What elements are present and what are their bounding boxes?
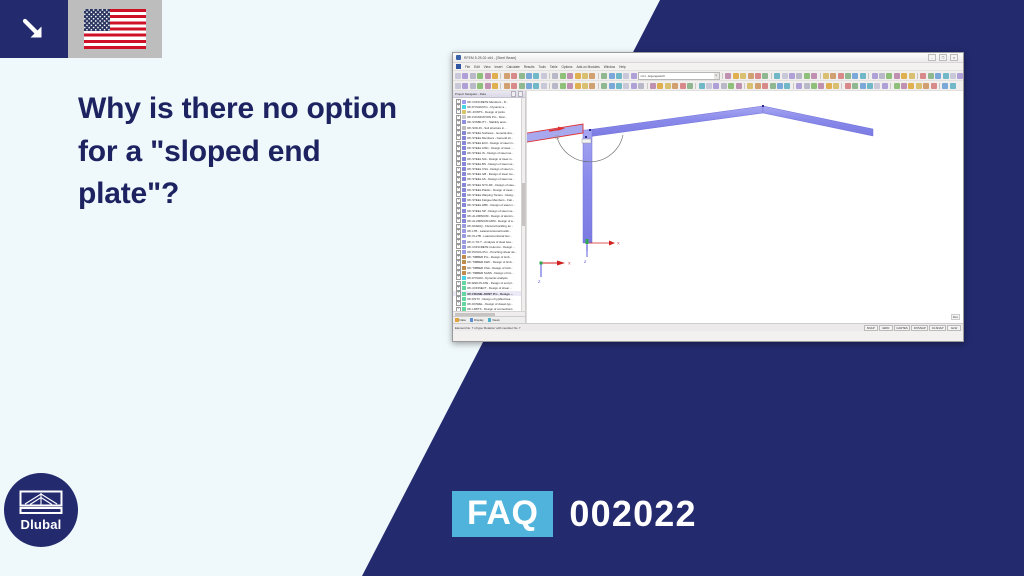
module-icon xyxy=(462,167,466,171)
toolbar-button[interactable] xyxy=(721,83,727,89)
toolbar-button[interactable] xyxy=(552,83,558,89)
module-icon xyxy=(462,146,466,150)
toolbar-button[interactable] xyxy=(519,83,525,89)
navigator-tree-item-label: RF-STEEL BS - Design of steel me... xyxy=(467,162,514,166)
toolbar-separator xyxy=(820,73,821,79)
rfem-application-window: RFEM 5.25.02 x64 - [Steel Beam] – ❐ ✕ Fi… xyxy=(452,52,964,342)
toolbar-button[interactable] xyxy=(533,83,539,89)
toolbar-separator xyxy=(549,73,550,79)
status-message: Element No. 7 of type 'Rotation' with me… xyxy=(455,326,521,330)
menu-item-view[interactable]: View xyxy=(484,65,491,69)
toolbar-button[interactable] xyxy=(845,73,851,79)
toolbar-button[interactable] xyxy=(928,73,934,79)
toolbar-button[interactable] xyxy=(838,73,844,79)
toolbar-button[interactable] xyxy=(511,73,517,79)
module-icon xyxy=(462,240,466,244)
navigator-tree-item-label: RF-DOWEL - Design of dowel-typ... xyxy=(467,302,513,306)
toolbar-button[interactable] xyxy=(455,73,461,79)
toolbar-button[interactable] xyxy=(950,73,956,79)
navigator-tree-item-label: RF-STEEL AS - Design of steel me... xyxy=(467,177,514,181)
toolbar-button[interactable] xyxy=(582,73,588,79)
toolbar-button[interactable] xyxy=(657,83,663,89)
status-cell[interactable]: OLSNAP xyxy=(929,325,946,331)
rafter-left-member xyxy=(587,106,763,137)
navigator-tree-item-label: RF-FRAME-JOINT Pro - Design ... xyxy=(467,292,513,296)
toolbar-button[interactable] xyxy=(728,83,734,89)
flag-usa-icon[interactable] xyxy=(68,0,162,58)
menu-item-results[interactable]: Results xyxy=(524,65,535,69)
dlubal-logo: Dlubal xyxy=(4,473,78,547)
navigator-tree-item[interactable]: +RF-STEEL EC3 - Design of steel m... xyxy=(453,141,525,146)
toolbar-button[interactable] xyxy=(796,73,802,79)
toolbar-button[interactable] xyxy=(826,83,832,89)
toolbar-button[interactable] xyxy=(601,83,607,89)
toolbar-button[interactable] xyxy=(455,83,461,89)
toolbar-separator xyxy=(500,83,501,89)
module-icon xyxy=(462,255,466,259)
arrow-down-right-icon xyxy=(0,0,68,58)
toolbar-separator xyxy=(841,83,842,89)
toolbar-button[interactable] xyxy=(616,83,622,89)
toolbar-button[interactable] xyxy=(740,73,746,79)
toolbar-button[interactable] xyxy=(852,73,858,79)
toolbar-button[interactable] xyxy=(950,83,956,89)
module-icon xyxy=(462,266,466,270)
global-axis-x-label: X xyxy=(568,261,571,266)
toolbar-button[interactable] xyxy=(589,73,595,79)
navigator-tree-item-label: RF-CONNECT - Design of shear ... xyxy=(467,286,512,290)
toolbar-button[interactable] xyxy=(485,73,491,79)
toolbar-button[interactable] xyxy=(733,73,739,79)
toolbar-button[interactable] xyxy=(931,83,937,89)
toolbar-button[interactable] xyxy=(818,83,824,89)
toolbar-button[interactable] xyxy=(526,73,532,79)
toolbar-button[interactable] xyxy=(504,83,510,89)
toolbar-separator xyxy=(868,73,869,79)
toolbar-separator xyxy=(695,83,696,89)
toolbar-button[interactable] xyxy=(526,83,532,89)
toolbar-button[interactable] xyxy=(879,73,885,79)
module-icon xyxy=(462,157,466,161)
toolbar-button[interactable] xyxy=(920,73,926,79)
toolbar-button[interactable] xyxy=(762,83,768,89)
toolbar-button[interactable] xyxy=(894,73,900,79)
module-icon xyxy=(462,234,466,238)
module-icon xyxy=(462,151,466,155)
module-icon xyxy=(462,219,466,223)
toolbar-button[interactable] xyxy=(874,83,880,89)
toolbar-button[interactable] xyxy=(774,73,780,79)
toolbar-button[interactable] xyxy=(567,73,573,79)
rotation-angle-label xyxy=(582,139,591,143)
toolbar-button[interactable] xyxy=(470,73,476,79)
toolbar-button[interactable] xyxy=(755,83,761,89)
module-icon xyxy=(462,115,466,119)
work-area: Project Navigator - Data +RF-CONCRETE Me… xyxy=(453,91,963,323)
local-axis-x-label: X xyxy=(617,241,620,246)
toolbar-secondary[interactable] xyxy=(453,81,963,91)
toolbar-button[interactable] xyxy=(882,83,888,89)
views-tab-icon xyxy=(488,318,492,322)
navigator-tab-views[interactable]: Views xyxy=(488,318,500,322)
navigator-tree-item-label: RF-C-TO-T - Analysis of steel bea... xyxy=(467,240,513,244)
module-icon xyxy=(462,131,466,135)
navigator-tree-item-label: RF-ALUMINIUM ADM - Design of a... xyxy=(467,219,515,223)
data-tab-icon xyxy=(455,318,459,322)
module-icon xyxy=(462,162,466,166)
toolbar-button[interactable] xyxy=(609,83,615,89)
module-icon xyxy=(462,188,466,192)
toolbar-button[interactable] xyxy=(860,73,866,79)
navigator-tree-item-label: RF-STEEL Members - General str... xyxy=(467,136,513,140)
toolbar-separator xyxy=(744,83,745,89)
navigator-tree-item-label: RF-STEEL EC3 - Design of steel m... xyxy=(467,141,515,145)
toolbar-button[interactable] xyxy=(699,83,705,89)
navigator-tree-item-label: RF-ALUMINIUM - Design of alumin... xyxy=(467,214,515,218)
toolbar-button[interactable] xyxy=(748,73,754,79)
navigator-tree-item-label: RF-STABILITY - Stability anal... xyxy=(467,120,507,124)
navigator-tree-item-label: RF-STEEL Warping Torsion - Desig... xyxy=(467,193,515,197)
maximize-button[interactable]: ❐ xyxy=(939,54,947,61)
navigator-vertical-scrollbar[interactable] xyxy=(521,98,526,311)
toolbar-button[interactable] xyxy=(462,83,468,89)
module-icon xyxy=(462,245,466,249)
dlubal-wordmark: Dlubal xyxy=(21,518,62,531)
menu-item-calculate[interactable]: Calculate xyxy=(506,65,519,69)
dlubal-frame-icon xyxy=(19,490,63,516)
toolbar-button[interactable] xyxy=(601,73,607,79)
load-case-combo[interactable]: LC1 - Eigengewicht▾ xyxy=(638,72,720,80)
module-icon xyxy=(462,214,466,218)
navigator-tree-item-label: RF-DYNAM Pro - Dynamic a... xyxy=(467,105,506,109)
toolbar-button[interactable] xyxy=(957,73,963,79)
chevron-down-icon[interactable]: ▾ xyxy=(714,73,719,79)
navigator-tree-item-label: RF-DUENQ - Flexural buckling an... xyxy=(467,224,513,228)
navigator-tab-views-label: Views xyxy=(492,318,500,322)
faq-identifier: FAQ 002022 xyxy=(452,491,697,537)
toolbar-button[interactable] xyxy=(631,83,637,89)
page-title: Why is there no option for a "sloped end… xyxy=(78,88,418,216)
toolbar-button[interactable] xyxy=(665,83,671,89)
toolbar-button[interactable] xyxy=(638,83,644,89)
toolbar-button[interactable] xyxy=(650,83,656,89)
navigator-tree-item[interactable]: +RF-STEEL SP - Design of steel me... xyxy=(453,208,525,213)
window-titlebar: RFEM 5.25.02 x64 - [Steel Beam] – ❐ ✕ xyxy=(453,53,963,63)
toolbar-button[interactable] xyxy=(541,83,547,89)
toolbar-button[interactable] xyxy=(777,83,783,89)
navigator-tree-item[interactable]: +RF-STEEL BS - Design of steel me... xyxy=(453,161,525,166)
global-origin-marker xyxy=(540,262,543,265)
navigator-header: Project Navigator - Data xyxy=(453,91,525,98)
toolbar-separator xyxy=(500,73,501,79)
toolbar-button[interactable] xyxy=(623,73,629,79)
navigator-tree-item-label: RF-TIMBER AWC - Design of timb... xyxy=(467,260,513,264)
toolbar-button[interactable] xyxy=(782,73,788,79)
module-icon xyxy=(462,172,466,176)
navigator-tree-item-label: RF-CONCRETE Members - D... xyxy=(467,100,508,104)
module-icon xyxy=(462,105,466,109)
status-cell[interactable]: GRID xyxy=(879,325,893,331)
module-icon xyxy=(462,271,466,275)
toolbar-button[interactable] xyxy=(747,83,753,89)
navigator-tree-item[interactable]: +RF-STEEL Plastic - Design of steel... xyxy=(453,187,525,192)
toolbar-button[interactable] xyxy=(770,83,776,89)
navigator-tree-item-label: RF-STEEL Surfaces - General stre... xyxy=(467,131,514,135)
module-icon xyxy=(462,136,466,140)
navigator-tree-item[interactable]: +RF-STEEL CSA - Design of steel m... xyxy=(453,166,525,171)
toolbar-separator xyxy=(890,83,891,89)
toolbar-button[interactable] xyxy=(680,83,686,89)
module-icon xyxy=(462,177,466,181)
toolbar-button[interactable] xyxy=(860,83,866,89)
navigator-tree-item-label: RF-PUNCH Pro - Punching shear de... xyxy=(467,250,516,254)
menu-item-edit[interactable]: Edit xyxy=(474,65,480,69)
toolbar-separator xyxy=(793,83,794,89)
rfem-app-icon xyxy=(456,55,461,60)
toolbar-separator xyxy=(771,73,772,79)
toolbar-button[interactable] xyxy=(616,73,622,79)
sloped-end-plate-member xyxy=(527,124,583,144)
toolbar-button[interactable] xyxy=(872,73,878,79)
toolbar-button[interactable] xyxy=(470,83,476,89)
navigator-pin-button[interactable] xyxy=(511,91,517,97)
toolbar-button[interactable] xyxy=(462,73,468,79)
navigator-tree-item[interactable]: +RF-STEEL Warping Torsion - Desig... xyxy=(453,192,525,197)
navigator-tree-item-label: RF-STEEL IS - Design of steel me... xyxy=(467,151,513,155)
module-icon xyxy=(462,183,466,187)
menu-item-addon-modules[interactable]: Add-on Modules xyxy=(577,65,600,69)
navigator-tree[interactable]: +RF-CONCRETE Members - D...+RF-DYNAM Pro… xyxy=(453,98,525,311)
toolbar-separator xyxy=(598,73,599,79)
menu-item-window[interactable]: Window xyxy=(604,65,615,69)
menu-item-tools[interactable]: Tools xyxy=(538,65,545,69)
navigator-scroll-thumb[interactable] xyxy=(522,183,526,226)
module-icon xyxy=(462,126,466,130)
menu-item-options[interactable]: Options xyxy=(562,65,573,69)
language-selector[interactable] xyxy=(0,0,162,58)
global-axis-x-arrow xyxy=(557,261,565,266)
toolbar-button[interactable] xyxy=(811,83,817,89)
toolbar-button[interactable] xyxy=(672,83,678,89)
toolbar-button[interactable] xyxy=(886,73,892,79)
navigator-tree-item[interactable]: +RF-CONCRETE Columns - Design ... xyxy=(453,244,525,249)
status-indicator-group[interactable]: SNAPGRIDCARTESDXSNAPOLSNAPGLW xyxy=(864,325,961,331)
toolbar-button[interactable] xyxy=(823,73,829,79)
navigator-horizontal-scrollbar[interactable] xyxy=(453,311,525,316)
navigator-tree-item-label: RF-FOUNDATION Pro - Desi... xyxy=(467,115,507,119)
toolbar-button[interactable] xyxy=(867,83,873,89)
menu-item-table[interactable]: Table xyxy=(550,65,558,69)
navigator-tree-item-label: RF-CONCRETE Columns - Design ... xyxy=(467,245,515,249)
navigator-tree-item-label: RF-TIMBER SANS - Design of tim... xyxy=(467,271,513,275)
toolbar-button[interactable] xyxy=(916,83,922,89)
status-cell[interactable]: DXSNAP xyxy=(911,325,928,331)
toolbar-button[interactable] xyxy=(541,73,547,79)
toolbar-button[interactable] xyxy=(804,83,810,89)
navigator-tree-item-label: RF-STEEL Plastic - Design of steel... xyxy=(467,188,514,192)
toolbar-button[interactable] xyxy=(804,73,810,79)
toolbar-button[interactable] xyxy=(909,73,915,79)
navigator-close-button[interactable] xyxy=(518,91,524,97)
toolbar-button[interactable] xyxy=(504,73,510,79)
global-axis-z-label: Z xyxy=(538,279,541,284)
navigator-tab-data-label: Data xyxy=(460,318,466,322)
local-axis-x-arrow xyxy=(609,241,615,246)
faq-number: 002022 xyxy=(569,496,696,532)
module-icon xyxy=(462,198,466,202)
navigator-tree-item[interactable]: +RF-ALUMINIUM ADM - Design of a... xyxy=(453,218,525,223)
toolbar-separator xyxy=(647,83,648,89)
module-icon xyxy=(462,209,466,213)
slide-canvas: Why is there no option for a "sloped end… xyxy=(0,0,1024,576)
toolbar-button[interactable] xyxy=(582,83,588,89)
status-cell[interactable]: GLW xyxy=(947,325,961,331)
faq-badge: FAQ xyxy=(452,491,553,537)
toolbar-button[interactable] xyxy=(560,73,566,79)
window-title: RFEM 5.25.02 x64 - [Steel Beam] xyxy=(464,56,516,60)
menu-item-file[interactable]: File xyxy=(465,65,470,69)
module-icon xyxy=(462,260,466,264)
navigator-tree-item-label: RF-LTB - Lateral-torsional buckli... xyxy=(467,229,511,233)
toolbar-button[interactable] xyxy=(833,83,839,89)
module-icon xyxy=(462,120,466,124)
toolbar-button[interactable] xyxy=(575,73,581,79)
status-bar: Element No. 7 of type 'Rotation' with me… xyxy=(453,323,963,331)
window-controls[interactable]: – ❐ ✕ xyxy=(928,54,960,61)
menu-item-insert[interactable]: Insert xyxy=(495,65,503,69)
display-tab-icon xyxy=(470,318,474,322)
navigator-header-buttons[interactable] xyxy=(511,91,524,97)
navigator-tree-item-label: RF-STEEL NTC-DF - Design of stee... xyxy=(467,183,516,187)
toolbar-button[interactable] xyxy=(631,73,637,79)
toolbar-button[interactable] xyxy=(725,73,731,79)
close-button[interactable]: ✕ xyxy=(950,54,958,61)
toolbar-button[interactable] xyxy=(589,83,595,89)
module-icon xyxy=(462,250,466,254)
navigator-tab-data[interactable]: Data xyxy=(455,318,466,322)
navigator-tree-item-label: RF-STEEL SIA - Design of steel m... xyxy=(467,157,513,161)
toolbar-button[interactable] xyxy=(942,83,948,89)
module-icon xyxy=(462,100,466,104)
support-base xyxy=(586,239,589,244)
module-icon xyxy=(462,193,466,197)
column-member xyxy=(583,130,592,243)
menu-bar[interactable]: File Edit View Insert Calculate Results … xyxy=(453,63,963,71)
toolbar-button[interactable] xyxy=(736,83,742,89)
navigator-tree-item-label: RF-STEEL SP - Design of steel me... xyxy=(467,209,514,213)
toolbar-button[interactable] xyxy=(894,83,900,89)
toolbar-separator xyxy=(939,83,940,89)
navigator-tree-item-label: RF-TIMBER Pro - Design of timb... xyxy=(467,255,512,259)
navigator-tree-item[interactable]: +RF-STEEL Fatigue Members - Fati... xyxy=(453,198,525,203)
toolbar-button[interactable] xyxy=(784,83,790,89)
navigator-tabs[interactable]: Data Display Views xyxy=(453,316,525,323)
toolbar-button[interactable] xyxy=(713,83,719,89)
navigator-tree-item[interactable]: +RF-STEEL Surfaces - General stre... xyxy=(453,130,525,135)
toolbar-button[interactable] xyxy=(943,73,949,79)
toolbar-button[interactable] xyxy=(511,83,517,89)
toolbar-button[interactable] xyxy=(533,73,539,79)
toolbar-button[interactable] xyxy=(492,73,498,79)
navigator-tree-item-label: RF-SOILIN - Soil structure in... xyxy=(467,126,506,130)
status-cell[interactable]: SNAP xyxy=(864,325,878,331)
toolbar-button[interactable] xyxy=(477,83,483,89)
navigator-tab-display[interactable]: Display xyxy=(470,318,484,322)
toolbar-button[interactable] xyxy=(923,83,929,89)
status-cell[interactable]: CARTES xyxy=(894,325,911,331)
module-icon xyxy=(462,297,466,301)
navigator-tree-item-label: RF-END-PLATE - Design of end pl... xyxy=(467,281,514,285)
toolbar-button[interactable] xyxy=(567,83,573,89)
navigator-tree-item[interactable]: +RF-PUNCH Pro - Punching shear de... xyxy=(453,249,525,254)
toolbar-button[interactable] xyxy=(811,73,817,79)
navigator-hscroll-thumb[interactable] xyxy=(455,313,495,316)
menu-app-icon xyxy=(456,64,461,69)
toolbar-button[interactable] xyxy=(901,73,907,79)
toolbar-button[interactable] xyxy=(552,73,558,79)
toolbar-button[interactable] xyxy=(706,83,712,89)
toolbar-button[interactable] xyxy=(830,73,836,79)
navigator-tree-item-label: RF-JOINTS - Design of joints xyxy=(467,110,504,114)
local-axis-z-label: Z xyxy=(584,259,587,264)
toolbar-button[interactable] xyxy=(762,73,768,79)
toolbar-button[interactable] xyxy=(852,83,858,89)
toolbar-button[interactable] xyxy=(935,73,941,79)
menu-item-help[interactable]: Help xyxy=(619,65,626,69)
navigator-tree-item-label: RF-STEEL AISC - Design of steel ... xyxy=(467,146,513,150)
toolbar-button[interactable] xyxy=(519,73,525,79)
node-marker xyxy=(589,129,591,131)
toolbar-button[interactable] xyxy=(901,83,907,89)
module-icon xyxy=(462,203,466,207)
toolbar-button[interactable] xyxy=(755,73,761,79)
toolbar-button[interactable] xyxy=(623,83,629,89)
module-icon xyxy=(462,141,466,145)
model-viewport[interactable]: X Z X Z Max xyxy=(526,91,963,323)
rafter-right-member xyxy=(763,106,873,136)
toolbar-separator xyxy=(598,83,599,89)
module-icon xyxy=(462,302,466,306)
navigator-title: Project Navigator - Data xyxy=(455,92,486,96)
toolbar-button[interactable] xyxy=(575,83,581,89)
toolbar-button[interactable] xyxy=(796,83,802,89)
navigator-tree-item-label: RF-STEEL GB - Design of steel me... xyxy=(467,172,515,176)
toolbar-button[interactable] xyxy=(485,83,491,89)
toolbar-primary[interactable]: LC1 - Eigengewicht▾ xyxy=(453,71,963,81)
navigator-tree-item-label: RF-IS-LTB - Lateral-torsional buc... xyxy=(467,234,512,238)
toolbar-button[interactable] xyxy=(609,73,615,79)
navigator-tree-item[interactable]: +RF-STEEL NTC-DF - Design of stee... xyxy=(453,182,525,187)
load-case-combo-value: LC1 - Eigengewicht xyxy=(641,74,665,78)
module-icon xyxy=(462,292,466,296)
toolbar-button[interactable] xyxy=(908,83,914,89)
toolbar-button[interactable] xyxy=(560,83,566,89)
toolbar-button[interactable] xyxy=(687,83,693,89)
minimize-button[interactable]: – xyxy=(928,54,936,61)
toolbar-button[interactable] xyxy=(845,83,851,89)
module-icon xyxy=(462,224,466,228)
navigator-tree-item[interactable]: +RF-ALUMINIUM - Design of alumin... xyxy=(453,213,525,218)
toolbar-button[interactable] xyxy=(477,73,483,79)
navigator-tree-item-label: RF-STEEL CSA - Design of steel m... xyxy=(467,167,515,171)
toolbar-button[interactable] xyxy=(492,83,498,89)
module-icon xyxy=(462,276,466,280)
navigator-tree-item-label: RF-DSTV - Design of typified bea... xyxy=(467,297,512,301)
project-navigator: Project Navigator - Data +RF-CONCRETE Me… xyxy=(453,91,526,323)
toolbar-button[interactable] xyxy=(789,73,795,79)
navigator-tab-display-label: Display xyxy=(474,318,483,322)
navigator-tree-item-label: RF-DYNAM - Dynamic analysis xyxy=(467,276,507,280)
